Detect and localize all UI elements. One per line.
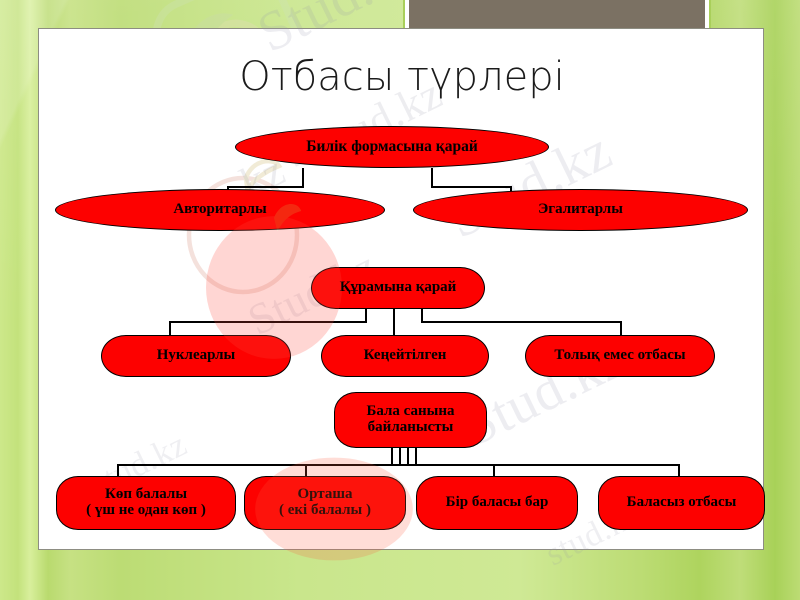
slide-content-card: Отбасы түрлері Билік формасына қарай Авт… <box>38 28 764 550</box>
node-count-childless[interactable]: Баласыз отбасы <box>598 476 765 530</box>
node-children-count-root[interactable]: Бала санына байланысты <box>334 392 487 448</box>
node-composition-root[interactable]: Құрамына қарай <box>311 267 485 309</box>
node-power-authoritarian[interactable]: Авторитарлы <box>55 189 385 231</box>
node-composition-nuclear[interactable]: Нуклеарлы <box>101 335 291 377</box>
node-power-egalitarian[interactable]: Эгалитарлы <box>413 189 748 231</box>
connector-power-left-horizontal <box>227 186 304 188</box>
node-count-many-children[interactable]: Көп балалы ( үш не одан көп ) <box>56 476 236 530</box>
node-composition-incomplete[interactable]: Толық емес отбасы <box>525 335 715 377</box>
node-count-one-child[interactable]: Бір баласы бар <box>416 476 578 530</box>
node-power-root[interactable]: Билік формасына қарай <box>235 126 549 168</box>
connector-comp-right-horizontal <box>421 321 622 323</box>
slide-canvas: Отбасы түрлері Билік формасына қарай Авт… <box>0 0 800 600</box>
connector-power-right-horizontal <box>431 186 512 188</box>
connector-count-bus <box>117 464 680 466</box>
family-types-diagram: Билік формасына қарай Авторитарлы Эгалит… <box>39 29 763 549</box>
connector-comp-left-horizontal <box>169 321 367 323</box>
node-composition-extended[interactable]: Кеңейтілген <box>321 335 489 377</box>
connector-power-root-left-stem <box>302 168 304 188</box>
node-count-average[interactable]: Орташа ( екі балалы ) <box>244 476 406 530</box>
connector-power-root-right-stem <box>431 168 433 188</box>
